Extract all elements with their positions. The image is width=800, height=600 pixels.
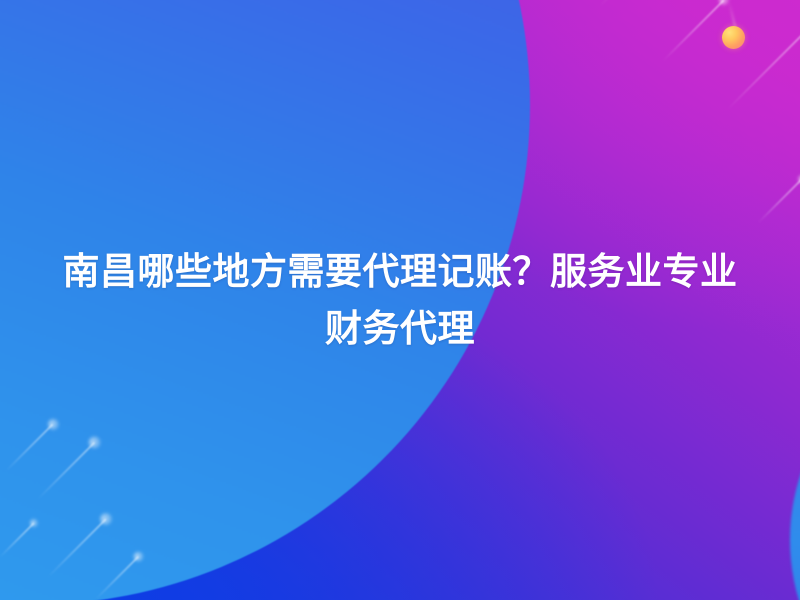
orange-planet-icon bbox=[722, 26, 745, 49]
banner-title-line-1: 南昌哪些地方需要代理记账？服务业专业 bbox=[56, 243, 744, 300]
banner-title-line-2: 财务代理 bbox=[56, 300, 744, 357]
promo-banner: 南昌哪些地方需要代理记账？服务业专业 财务代理 bbox=[0, 0, 800, 600]
banner-title: 南昌哪些地方需要代理记账？服务业专业 财务代理 bbox=[0, 243, 800, 357]
